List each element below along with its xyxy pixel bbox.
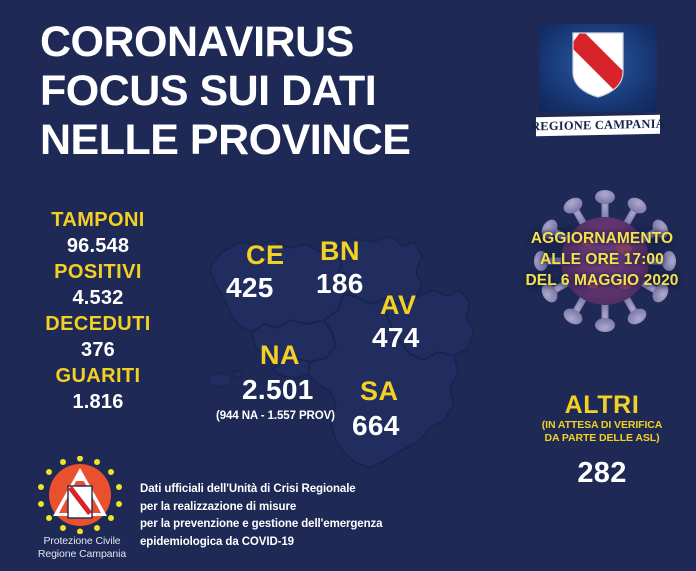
page-title: CORONAVIRUS FOCUS SUI DATI NELLE PROVINC… — [40, 18, 510, 165]
province-abbr-sa: SA — [360, 376, 399, 407]
province-abbr-av: AV — [380, 290, 417, 321]
province-abbr-bn: BN — [320, 236, 360, 267]
province-count-ce: 425 — [226, 272, 274, 304]
province-detail-na: (944 NA - 1.557 PROV) — [216, 410, 335, 422]
stat-label-deceduti: DECEDUTI — [0, 312, 196, 337]
infographic-poster: CORONAVIRUS FOCUS SUI DATI NELLE PROVINC… — [0, 0, 696, 571]
regione-logo-caption-text: REGIONE CAMPANIA — [531, 117, 665, 135]
province-abbr-na: NA — [260, 340, 300, 371]
campania-province-map: CE 425 BN 186 AV 474 NA 2.501 (944 NA - … — [186, 228, 506, 506]
protezione-civile-line-2: Regione Campania — [28, 548, 136, 561]
altri-value: 282 — [508, 456, 696, 490]
stat-label-positivi: POSITIVI — [0, 260, 196, 285]
footer-line-4: epidemiologica da COVID-19 — [140, 534, 470, 552]
altri-title: ALTRI — [508, 392, 696, 419]
title-line-3: NELLE PROVINCE — [40, 116, 510, 165]
protezione-civile-caption: Protezione Civile Regione Campania — [28, 535, 136, 560]
altri-subtitle-2: DA PARTE DELLE ASL) — [508, 432, 696, 445]
title-line-2: FOCUS SUI DATI — [40, 67, 510, 116]
protezione-civile-line-1: Protezione Civile — [28, 535, 136, 548]
update-text: AGGIORNAMENTO ALLE ORE 17:00 DEL 6 MAGGI… — [508, 228, 696, 291]
altri-subtitle-1: (IN ATTESA DI VERIFICA — [508, 419, 696, 432]
update-line-3: DEL 6 MAGGIO 2020 — [508, 270, 696, 291]
province-abbr-ce: CE — [246, 240, 285, 271]
province-count-sa: 664 — [352, 410, 400, 442]
protezione-civile-icon — [28, 456, 132, 534]
province-count-av: 474 — [372, 322, 420, 354]
stat-value-guariti: 1.816 — [0, 389, 196, 416]
altri-block: ALTRI (IN ATTESA DI VERIFICA DA PARTE DE… — [508, 392, 696, 490]
campania-shield-icon — [572, 32, 624, 98]
province-count-na: 2.501 — [242, 374, 314, 406]
footer-note: Dati ufficiali dell'Unità di Crisi Regio… — [140, 481, 470, 551]
update-timestamp-block: AGGIORNAMENTO ALLE ORE 17:00 DEL 6 MAGGI… — [508, 188, 696, 334]
stat-value-deceduti: 376 — [0, 337, 196, 364]
title-line-1: CORONAVIRUS — [40, 18, 510, 67]
stat-label-tamponi: TAMPONI — [0, 208, 196, 233]
footer-line-2: per la realizzazione di misure — [140, 499, 470, 517]
regione-logo-caption: REGIONE CAMPANIA — [536, 115, 660, 137]
stat-value-tamponi: 96.548 — [0, 233, 196, 260]
province-count-bn: 186 — [316, 268, 364, 300]
stat-label-guariti: GUARITI — [0, 364, 196, 389]
stat-value-positivi: 4.532 — [0, 285, 196, 312]
statistics-column: TAMPONI 96.548 POSITIVI 4.532 DECEDUTI 3… — [0, 208, 196, 416]
protezione-civile-logo: Protezione Civile Regione Campania — [28, 456, 136, 560]
footer-line-3: per la prevenzione e gestione dell'emerg… — [140, 516, 470, 534]
footer-line-1: Dati ufficiali dell'Unità di Crisi Regio… — [140, 481, 470, 499]
update-line-2: ALLE ORE 17:00 — [508, 249, 696, 270]
update-line-1: AGGIORNAMENTO — [508, 228, 696, 249]
regione-campania-logo: REGIONE CAMPANIA — [539, 24, 657, 139]
regione-logo-panel — [539, 24, 657, 112]
